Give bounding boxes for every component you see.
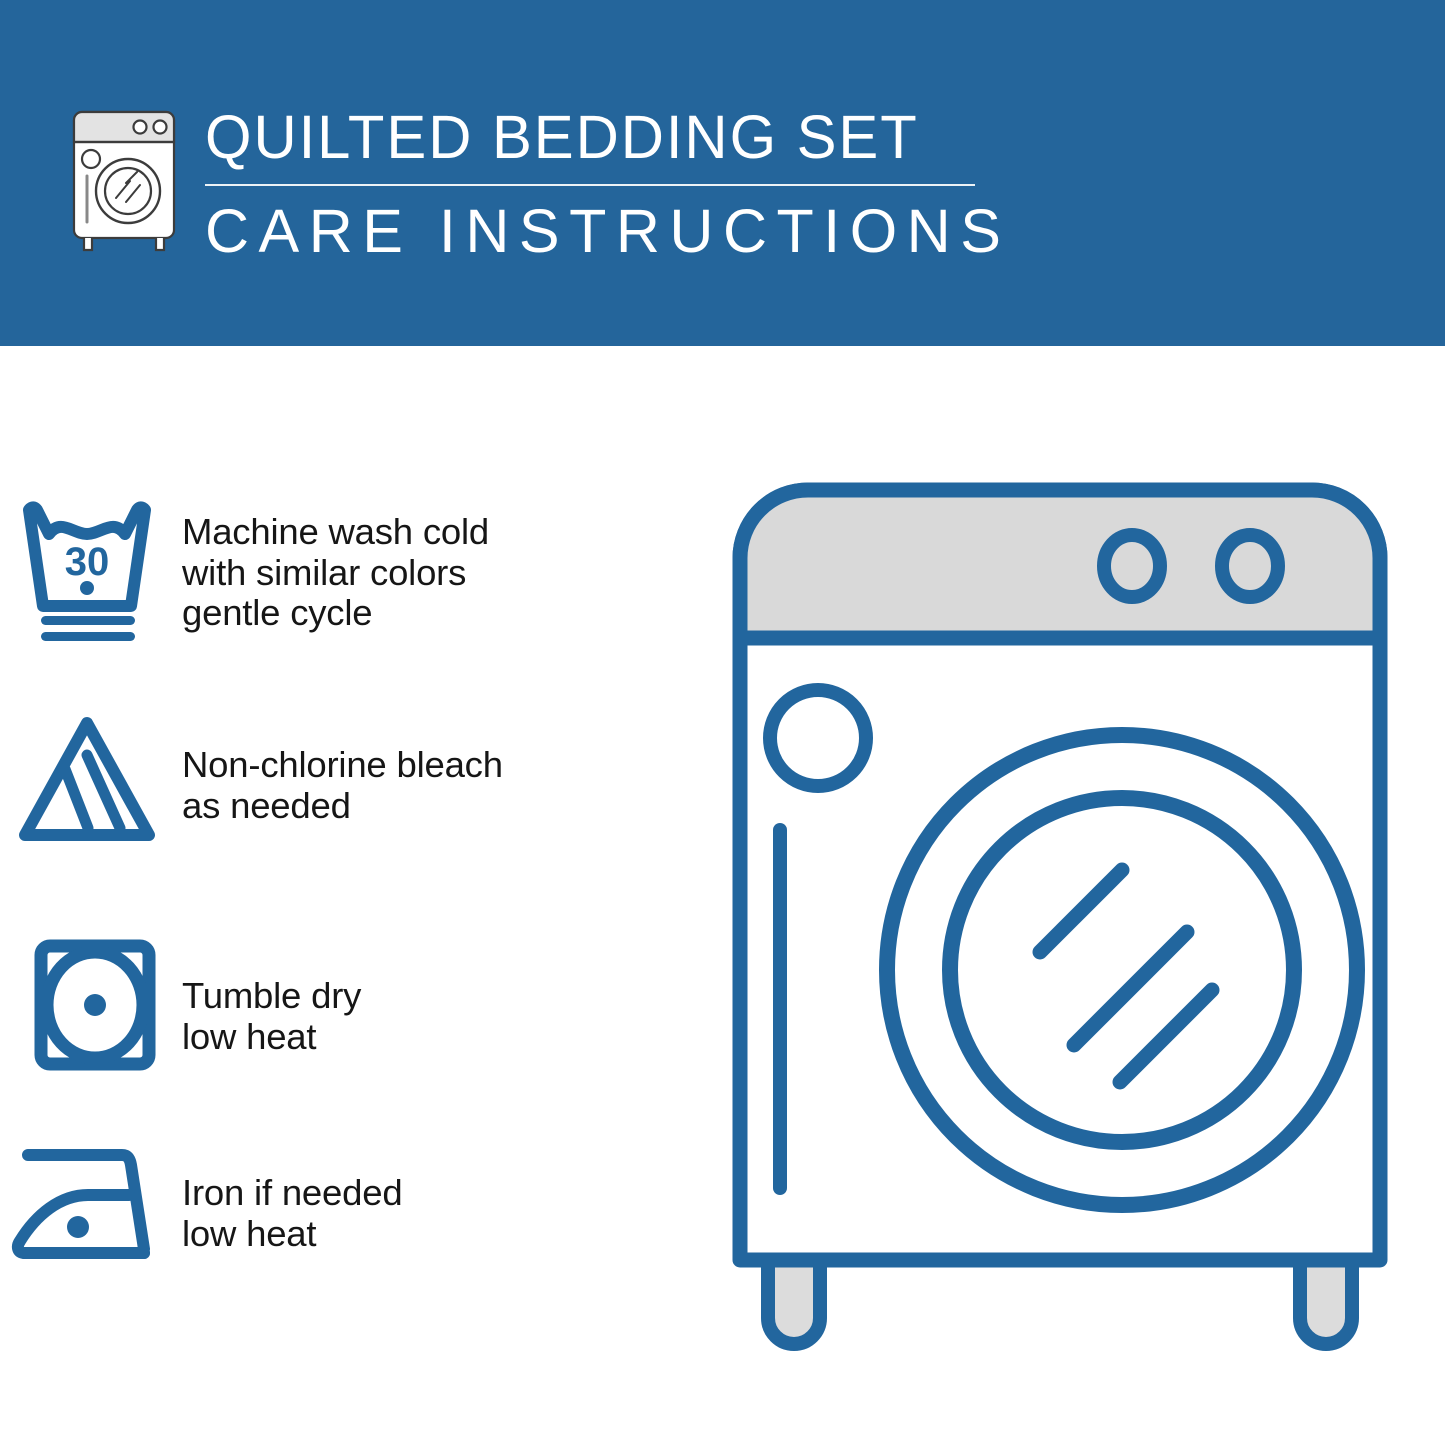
care-row-tumble-dry: Tumble dry low heat (0, 928, 700, 1078)
care-instructions-page: QUILTED BEDDING SET CARE INSTRUCTIONS 30 (0, 0, 1445, 1445)
care-row-label: Tumble dry low heat (172, 928, 361, 1057)
non-chlorine-bleach-triangle-icon (0, 711, 172, 851)
care-row-label: Non-chlorine bleach as needed (172, 711, 503, 826)
header-divider (205, 184, 975, 186)
tumble-dry-low-icon (0, 928, 172, 1078)
washing-machine-icon (64, 104, 184, 256)
care-row-label: Iron if needed low heat (172, 1141, 402, 1254)
care-row-bleach: Non-chlorine bleach as needed (0, 711, 700, 851)
iron-low-heat-icon (0, 1141, 172, 1271)
wash-tub-30-icon: 30 (0, 496, 172, 648)
header-text-block: QUILTED BEDDING SET CARE INSTRUCTIONS (205, 106, 1005, 262)
care-row-iron: Iron if needed low heat (0, 1141, 700, 1271)
svg-text:30: 30 (65, 540, 110, 584)
front-load-washing-machine-illustration (722, 470, 1422, 1390)
header-banner: QUILTED BEDDING SET CARE INSTRUCTIONS (0, 0, 1445, 346)
care-row-label: Machine wash cold with similar colors ge… (172, 496, 489, 634)
care-instructions-list: 30 Machine wash cold with similar colors… (0, 346, 720, 1445)
page-subtitle: CARE INSTRUCTIONS (205, 200, 1005, 262)
page-title: QUILTED BEDDING SET (205, 106, 989, 168)
care-row-machine-wash: 30 Machine wash cold with similar colors… (0, 496, 700, 648)
